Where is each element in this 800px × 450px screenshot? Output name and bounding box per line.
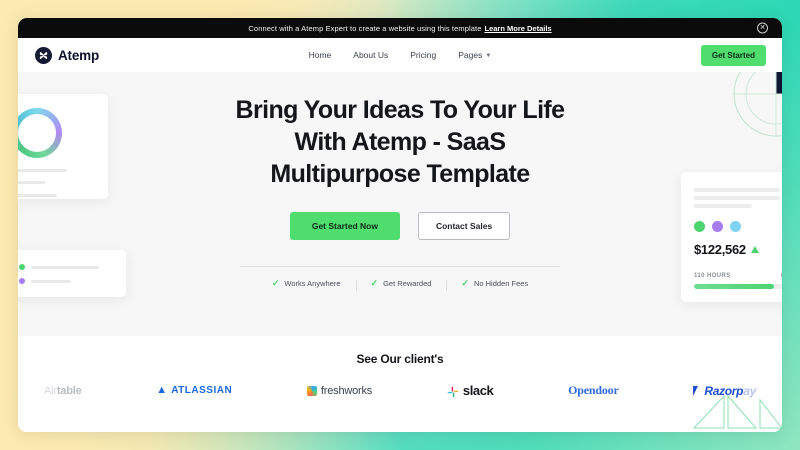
- stat-dot-blue: [730, 221, 741, 232]
- client-logo-row: Airtable ▲ ATLASSIAN freshworks: [18, 383, 782, 398]
- feature-no-hidden-fees: ✓ No Hidden Fees: [446, 279, 543, 288]
- nav-item-about-us[interactable]: About Us: [353, 50, 388, 60]
- navbar: Atemp Home About Us Pricing Pages ▼ Get …: [18, 38, 782, 72]
- headline-line-1: Bring Your Ideas To Your Life: [236, 96, 565, 124]
- stats-card-dots: [694, 221, 782, 232]
- legend-placeholder-bar: [18, 169, 67, 172]
- slack-wordmark: slack: [463, 383, 494, 398]
- nav-item-pricing-label: Pricing: [410, 50, 436, 60]
- website-preview-frame: Connect with a Atemp Expert to create a …: [18, 18, 782, 432]
- feature-label: No Hidden Fees: [474, 279, 528, 288]
- get-started-now-button[interactable]: Get Started Now: [290, 212, 400, 240]
- atlassian-mark-icon: ▲: [156, 385, 167, 396]
- arc-decoration-icon: [680, 72, 782, 178]
- skeleton-line: [694, 196, 780, 200]
- stats-meter-track: [694, 284, 782, 289]
- atlassian-wordmark: ATLASSIAN: [171, 385, 232, 396]
- brand-name: Atemp: [58, 48, 99, 63]
- contact-sales-button[interactable]: Contact Sales: [418, 212, 510, 240]
- stats-card: $122,562 110 HOURS 80%: [681, 172, 782, 302]
- deco-donut-card: [18, 94, 108, 199]
- stats-meter-header: 110 HOURS 80%: [694, 272, 782, 279]
- promo-banner-text: Connect with a Atemp Expert to create a …: [248, 24, 481, 33]
- airtable-logo-icon: Airtable: [44, 385, 82, 397]
- triangle-up-icon: [751, 246, 759, 253]
- clients-section: See Our client's Airtable ▲ ATLASSIAN fr…: [18, 336, 782, 432]
- feature-get-rewarded: ✓ Get Rewarded: [356, 279, 447, 288]
- promo-banner-link[interactable]: Learn More Details: [484, 24, 551, 33]
- donut-chart-icon: [18, 108, 62, 158]
- nav-item-pages[interactable]: Pages ▼: [458, 50, 491, 60]
- feature-works-anywhere: ✓ Works Anywhere: [257, 279, 356, 288]
- hero-feature-row: ✓ Works Anywhere ✓ Get Rewarded ✓ No Hid…: [190, 279, 610, 288]
- close-icon[interactable]: ✕: [757, 23, 768, 34]
- list-item: [18, 192, 96, 198]
- hero-cta-row: Get Started Now Contact Sales: [190, 212, 610, 240]
- slack-mark-icon: [447, 385, 459, 397]
- freshworks-mark-icon: [307, 386, 317, 396]
- get-started-button[interactable]: Get Started: [701, 45, 766, 66]
- nav-item-home-label: Home: [309, 50, 332, 60]
- list-item: [19, 278, 114, 284]
- check-icon: ✓: [272, 279, 280, 288]
- stat-dot-green: [694, 221, 705, 232]
- opendoor-wordmark: Opendoor: [568, 383, 618, 398]
- page-title: Bring Your Ideas To Your Life With Atemp…: [190, 94, 610, 190]
- deco-list-card: [18, 250, 126, 297]
- legend-placeholder-bar: [31, 280, 71, 283]
- stats-value-row: $122,562: [694, 242, 782, 257]
- skeleton-line: [694, 204, 752, 208]
- atemp-logo-icon: [35, 47, 52, 64]
- divider: [240, 266, 560, 267]
- legend-dot-purple: [19, 278, 25, 284]
- legend-dot-green: [19, 264, 25, 270]
- list-item: [18, 167, 96, 173]
- list-card-legend: [18, 264, 114, 284]
- nav-item-pages-label: Pages: [458, 50, 482, 60]
- feature-label: Get Rewarded: [383, 279, 431, 288]
- headline-line-2: With Atemp - SaaS: [295, 128, 506, 156]
- nav-item-pricing[interactable]: Pricing: [410, 50, 436, 60]
- check-icon: ✓: [461, 279, 469, 288]
- legend-placeholder-bar: [31, 266, 99, 269]
- freshworks-wordmark: freshworks: [321, 385, 372, 397]
- stats-meter-percent: 80%: [781, 272, 782, 279]
- airtable-wordmark-prefix: Air: [44, 385, 57, 397]
- nav-item-home[interactable]: Home: [309, 50, 332, 60]
- headline-line-3: Multipurpose Template: [270, 160, 529, 188]
- chevron-down-icon: ▼: [485, 53, 491, 59]
- stat-dot-purple: [712, 221, 723, 232]
- skeleton-line: [694, 188, 780, 192]
- nav-links: Home About Us Pricing Pages ▼: [309, 50, 492, 60]
- atlassian-logo-icon: ▲ ATLASSIAN: [156, 385, 232, 396]
- check-icon: ✓: [371, 279, 379, 288]
- list-item: [19, 264, 114, 270]
- freshworks-logo-icon: freshworks: [307, 385, 372, 397]
- slack-logo-icon: slack: [447, 383, 494, 398]
- opendoor-logo-icon: Opendoor: [568, 383, 618, 398]
- airtable-wordmark-suffix: table: [57, 385, 82, 397]
- list-item: [18, 180, 96, 186]
- clients-title: See Our client's: [356, 352, 443, 366]
- stats-card-skeleton: [694, 188, 782, 208]
- triangle-decoration-icon: [686, 370, 782, 432]
- nav-item-about-us-label: About Us: [353, 50, 388, 60]
- legend-placeholder-bar: [18, 194, 57, 197]
- promo-banner: Connect with a Atemp Expert to create a …: [18, 18, 782, 38]
- stats-meter-label: 110 HOURS: [694, 273, 731, 279]
- airtable-wordmark: Airtable: [44, 385, 82, 397]
- legend-placeholder-bar: [18, 181, 45, 184]
- feature-label: Works Anywhere: [284, 279, 340, 288]
- hero-section: $122,562 110 HOURS 80% Bring Your Ideas …: [18, 72, 782, 336]
- hero-content: Bring Your Ideas To Your Life With Atemp…: [190, 94, 610, 288]
- stats-meter-fill: [694, 284, 774, 289]
- stats-value: $122,562: [694, 242, 746, 257]
- brand[interactable]: Atemp: [35, 47, 99, 64]
- donut-card-legend: [18, 167, 96, 198]
